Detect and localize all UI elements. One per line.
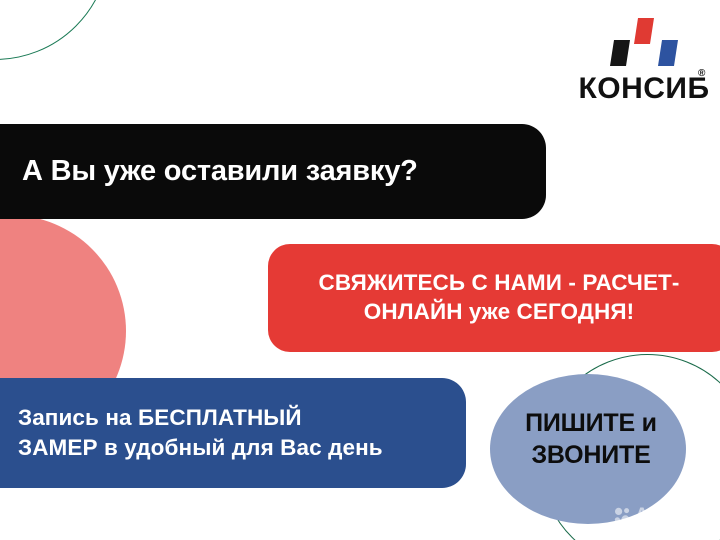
brand-logo: КОНСИБ ® [578, 18, 710, 106]
avito-dots-icon [614, 507, 631, 524]
green-ring-top-left-icon [0, 0, 110, 60]
trademark-symbol: ® [698, 68, 705, 79]
avito-label: Avito [635, 506, 680, 525]
booking-line-1: Запись на БЕСПЛАТНЫЙ [18, 405, 302, 430]
contact-text: СВЯЖИТЕСЬ С НАМИ - РАСЧЕТ- ОНЛАЙН уже СЕ… [318, 269, 679, 327]
callout-text: ПИШИТЕ и ЗВОНИТЕ [492, 408, 690, 471]
headline-banner: А Вы уже оставили заявку? [0, 124, 546, 219]
booking-text: Запись на БЕСПЛАТНЫЙ ЗАМЕР в удобный для… [18, 403, 383, 463]
poster-canvas: КОНСИБ ® А Вы уже оставили заявку? СВЯЖИ… [0, 0, 720, 540]
booking-line-2: ЗАМЕР в удобный для Вас день [18, 435, 383, 460]
callout-line-1: ПИШИТЕ и [525, 409, 657, 437]
konsib-parallelogram-logo-icon [604, 18, 684, 66]
brand-wordmark: КОНСИБ [578, 74, 710, 104]
callout-line-2: ЗВОНИТЕ [531, 441, 650, 469]
avito-watermark: Avito [614, 506, 680, 525]
contact-line-1: СВЯЖИТЕСЬ С НАМИ - РАСЧЕТ- [318, 270, 679, 295]
headline-text: А Вы уже оставили заявку? [22, 155, 418, 188]
booking-banner: Запись на БЕСПЛАТНЫЙ ЗАМЕР в удобный для… [0, 378, 466, 488]
contact-banner: СВЯЖИТЕСЬ С НАМИ - РАСЧЕТ- ОНЛАЙН уже СЕ… [268, 244, 720, 352]
contact-line-2: ОНЛАЙН уже СЕГОДНЯ! [364, 299, 634, 324]
